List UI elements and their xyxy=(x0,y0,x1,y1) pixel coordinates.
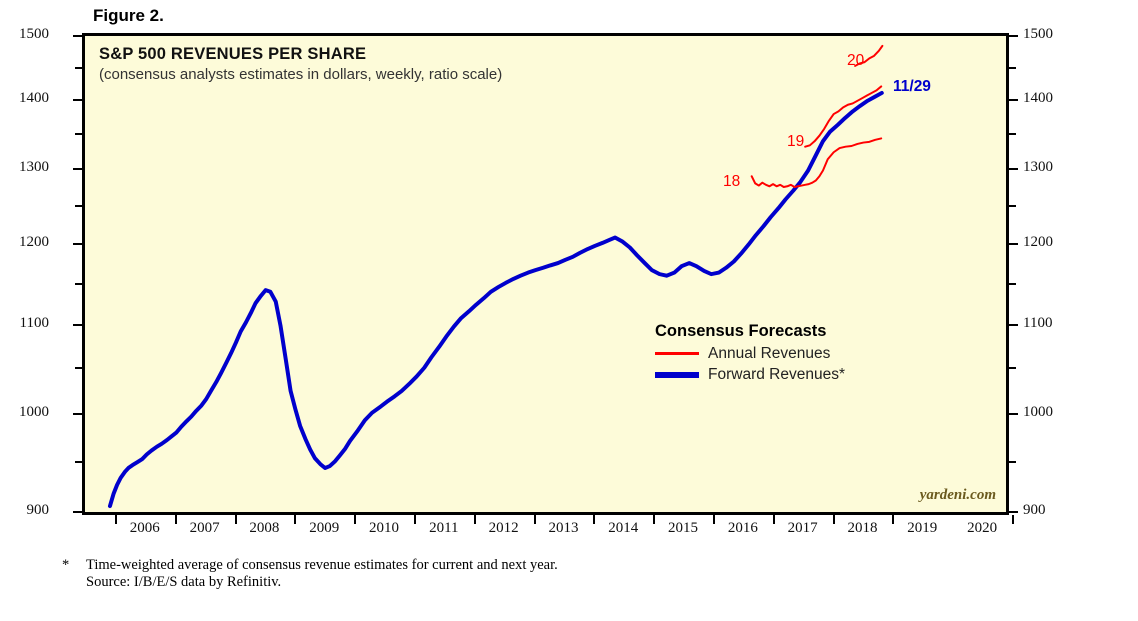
footnote-marker-0: * xyxy=(62,557,86,574)
figure-page: Figure 2. S&P 500 REVENUES PER SHARE (co… xyxy=(0,0,1138,621)
axis-tick-mark xyxy=(75,461,82,463)
x-axis-tick-mark xyxy=(593,515,595,524)
axis-tick-mark xyxy=(1009,67,1016,69)
annotation-annual-2018: 18 xyxy=(723,173,740,191)
x-axis-tick-label-2019: 2019 xyxy=(907,520,937,537)
axis-tick-mark xyxy=(1009,168,1018,170)
axis-tick-mark xyxy=(1009,243,1018,245)
y-axis-tick-label-right-1300: 1300 xyxy=(1023,159,1053,176)
annotation-annual-2020: 20 xyxy=(847,52,864,70)
x-axis-tick-label-2020: 2020 xyxy=(967,520,997,537)
x-axis-tick-label-2006: 2006 xyxy=(130,520,160,537)
x-axis-tick-label-2015: 2015 xyxy=(668,520,698,537)
plot-canvas xyxy=(85,36,1006,512)
footnote-marker-1 xyxy=(62,574,86,591)
axis-tick-mark xyxy=(73,168,82,170)
series-line-annual_2019 xyxy=(805,86,881,146)
footnote-row-0: *Time-weighted average of consensus reve… xyxy=(62,557,558,574)
footnotes: *Time-weighted average of consensus reve… xyxy=(62,557,558,591)
x-axis-tick-mark xyxy=(653,515,655,524)
x-axis-tick-mark xyxy=(235,515,237,524)
x-axis-tick-mark xyxy=(414,515,416,524)
chart-legend: Consensus Forecasts Annual Revenues Forw… xyxy=(655,322,845,385)
x-axis-tick-mark xyxy=(115,515,117,524)
x-axis-tick-label-2011: 2011 xyxy=(429,520,458,537)
legend-title: Consensus Forecasts xyxy=(655,322,845,341)
y-axis-tick-label-right-1000: 1000 xyxy=(1023,404,1053,421)
axis-tick-mark xyxy=(75,367,82,369)
axis-tick-mark xyxy=(1009,205,1016,207)
chart-frame: S&P 500 REVENUES PER SHARE (consensus an… xyxy=(82,33,1009,515)
x-axis-tick-label-2018: 2018 xyxy=(847,520,877,537)
axis-tick-mark xyxy=(75,205,82,207)
y-axis-tick-label-left-900: 900 xyxy=(27,502,50,519)
x-axis-tick-label-2016: 2016 xyxy=(728,520,758,537)
x-axis-tick-mark xyxy=(474,515,476,524)
annotation-latest-date: 11/29 xyxy=(893,78,931,96)
x-axis-tick-label-2008: 2008 xyxy=(249,520,279,537)
legend-label-annual-revenues: Annual Revenues xyxy=(708,345,830,363)
x-axis-tick-mark xyxy=(294,515,296,524)
figure-caption: Figure 2. xyxy=(93,6,164,26)
y-axis-tick-label-right-1200: 1200 xyxy=(1023,234,1053,251)
x-axis-tick-mark xyxy=(773,515,775,524)
y-axis-tick-label-left-1500: 1500 xyxy=(19,26,49,43)
x-axis-tick-mark xyxy=(1012,515,1014,524)
x-axis-tick-mark xyxy=(175,515,177,524)
x-axis-tick-label-2017: 2017 xyxy=(788,520,818,537)
axis-tick-mark xyxy=(1009,461,1016,463)
axis-tick-mark xyxy=(75,283,82,285)
x-axis-tick-mark xyxy=(713,515,715,524)
axis-tick-mark xyxy=(75,133,82,135)
y-axis-tick-label-left-1200: 1200 xyxy=(19,234,49,251)
axis-tick-mark xyxy=(73,35,82,37)
footnote-text-1: Source: I/B/E/S data by Refinitiv. xyxy=(86,574,558,591)
axis-tick-mark xyxy=(1009,367,1016,369)
footnote-row-1: Source: I/B/E/S data by Refinitiv. xyxy=(62,574,558,591)
footnote-text-0: Time-weighted average of consensus reven… xyxy=(86,557,558,574)
legend-label-forward-revenues: Forward Revenues* xyxy=(708,366,845,384)
axis-tick-mark xyxy=(1009,35,1018,37)
x-axis-tick-mark xyxy=(534,515,536,524)
y-axis-tick-label-right-1100: 1100 xyxy=(1023,315,1052,332)
x-axis-tick-mark xyxy=(833,515,835,524)
y-axis-tick-label-left-1300: 1300 xyxy=(19,159,49,176)
x-axis-tick-label-2010: 2010 xyxy=(369,520,399,537)
axis-tick-mark xyxy=(1009,413,1018,415)
y-axis-tick-label-right-900: 900 xyxy=(1023,502,1046,519)
legend-item-annual-revenues: Annual Revenues xyxy=(655,343,845,364)
x-axis-tick-label-2014: 2014 xyxy=(608,520,638,537)
axis-tick-mark xyxy=(73,243,82,245)
legend-swatch-annual-line xyxy=(655,352,699,355)
x-axis-tick-mark xyxy=(354,515,356,524)
x-axis-tick-mark xyxy=(892,515,894,524)
x-axis-tick-label-2012: 2012 xyxy=(489,520,519,537)
axis-tick-mark xyxy=(73,413,82,415)
x-axis-tick-label-2007: 2007 xyxy=(190,520,220,537)
series-line-annual_2018 xyxy=(752,138,882,187)
axis-tick-mark xyxy=(73,324,82,326)
legend-item-forward-revenues: Forward Revenues* xyxy=(655,364,845,385)
axis-tick-mark xyxy=(73,511,82,513)
annotation-annual-2019: 19 xyxy=(787,133,804,151)
y-axis-tick-label-left-1000: 1000 xyxy=(19,404,49,421)
y-axis-tick-label-left-1400: 1400 xyxy=(19,90,49,107)
y-axis-tick-label-right-1400: 1400 xyxy=(1023,90,1053,107)
axis-tick-mark xyxy=(1009,99,1018,101)
y-axis-tick-label-right-1500: 1500 xyxy=(1023,26,1053,43)
y-axis-tick-label-left-1100: 1100 xyxy=(20,315,49,332)
x-axis-tick-label-2013: 2013 xyxy=(548,520,578,537)
axis-tick-mark xyxy=(1009,283,1016,285)
axis-tick-mark xyxy=(1009,133,1016,135)
axis-tick-mark xyxy=(1009,324,1018,326)
axis-tick-mark xyxy=(73,99,82,101)
axis-tick-mark xyxy=(75,67,82,69)
x-axis-tick-label-2009: 2009 xyxy=(309,520,339,537)
axis-tick-mark xyxy=(1009,511,1018,513)
legend-swatch-forward-line xyxy=(655,372,699,378)
series-line-forward xyxy=(110,93,882,506)
yardeni-watermark: yardeni.com xyxy=(920,487,996,504)
